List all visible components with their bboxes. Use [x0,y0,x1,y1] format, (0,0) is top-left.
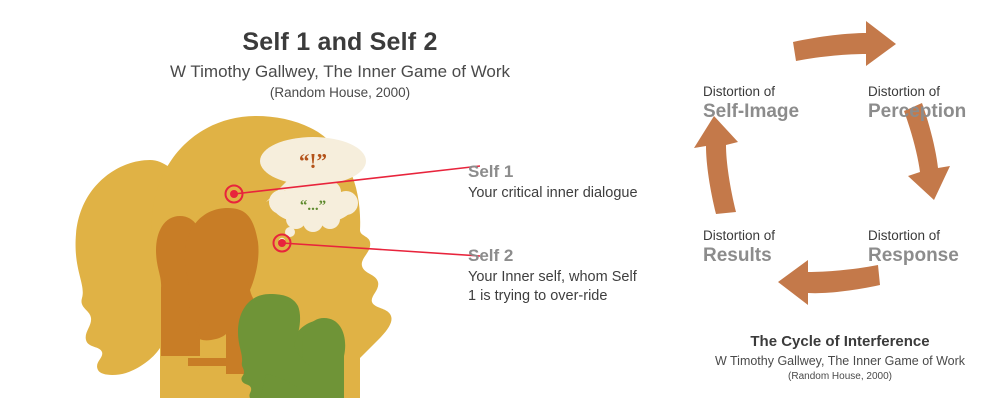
cycle-node-perception-pre: Distortion of [868,84,998,100]
cycle-caption-subtitle: W Timothy Gallwey, The Inner Game of Wor… [680,354,1000,369]
page-title: Self 1 and Self 2 [130,28,550,57]
callout-self-1-desc: Your critical inner dialogue [468,184,638,203]
callout-self-2-title: Self 2 [468,245,648,266]
cycle-node-self-image-pre: Distortion of [703,84,833,100]
cycle-node-perception: Distortion of Perception [868,84,998,123]
cycle-caption-title: The Cycle of Interference [680,333,1000,351]
head-silhouette-illustration: “!” “...” [60,108,480,403]
cycle-caption-publisher: (Random House, 2000) [680,371,1000,383]
cycle-of-interference-panel: Distortion of Self-Image Distortion of P… [680,0,1000,407]
self-1-and-self-2-panel: Self 1 and Self 2 W Timothy Gallwey, The… [0,0,680,407]
cycle-node-self-image: Distortion of Self-Image [703,84,833,123]
speech-bubble-text: “!” [299,149,327,173]
cycle-node-results-label: Results [703,245,833,267]
left-title-block: Self 1 and Self 2 W Timothy Gallwey, The… [130,28,550,100]
page-subtitle: W Timothy Gallwey, The Inner Game of Wor… [130,62,550,82]
arrow-top-right [793,21,896,66]
callout-self-1-title: Self 1 [468,161,638,182]
thought-bubble-text: “...” [300,198,326,214]
cycle-node-response: Distortion of Response [868,228,998,267]
cycle-node-response-pre: Distortion of [868,228,998,244]
arrow-left-up [694,116,738,214]
cycle-node-response-label: Response [868,245,998,267]
callout-self-2: Self 2 Your Inner self, whom Self 1 is t… [468,245,648,307]
cycle-node-results: Distortion of Results [703,228,833,267]
callout-self-2-desc: Your Inner self, whom Self 1 is trying t… [468,268,648,306]
cycle-caption-block: The Cycle of Interference W Timothy Gall… [680,333,1000,383]
page-publisher: (Random House, 2000) [130,85,550,100]
cycle-node-self-image-label: Self-Image [703,101,833,123]
callout-self-1: Self 1 Your critical inner dialogue [468,161,638,203]
cycle-arrows-group [680,0,1000,340]
cycle-node-results-pre: Distortion of [703,228,833,244]
cycle-node-perception-label: Perception [868,101,998,123]
